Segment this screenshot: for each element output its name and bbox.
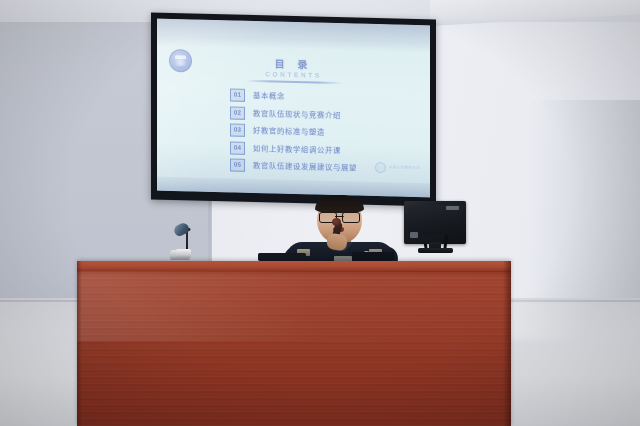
- toc-number: 01: [230, 89, 245, 102]
- watermark-badge-icon: [375, 162, 386, 173]
- projection-screen-surface: 目 录 CONTENTS 01 基本概念 02 教官队伍现状与竞赛介绍 03: [157, 19, 430, 198]
- drinking-cup: [176, 249, 191, 258]
- slide-watermark: 中国人民警察大学: [375, 162, 420, 174]
- toc-label: 如何上好教学组调公开课: [253, 143, 341, 156]
- projection-screen-frame: 目 录 CONTENTS 01 基本概念 02 教官队伍现状与竞赛介绍 03: [151, 13, 436, 207]
- toc-label: 教官队伍现状与竞赛介绍: [253, 108, 341, 121]
- toc-number: 04: [230, 141, 245, 154]
- toc-number: 05: [230, 159, 245, 172]
- lcd-monitor: [404, 201, 466, 251]
- toc-label: 好教官的标准与塑造: [253, 125, 325, 138]
- toc-label: 基本概念: [253, 90, 285, 102]
- microphone-head-icon: [332, 218, 341, 226]
- presentation-slide: 目 录 CONTENTS 01 基本概念 02 教官队伍现状与竞赛介绍 03: [157, 35, 430, 184]
- lecture-hall-photo: 目 录 CONTENTS 01 基本概念 02 教官队伍现状与竞赛介绍 03: [0, 0, 640, 426]
- podium-left-edge: [77, 261, 82, 426]
- monitor-stand-base: [418, 248, 453, 253]
- monitor-port: [410, 232, 418, 238]
- toc-number: 02: [230, 106, 245, 119]
- monitor-brand-logo-icon: [446, 206, 459, 210]
- lens-right: [342, 212, 360, 223]
- podium-object-dark: [258, 253, 306, 261]
- podium-object-dark-right: [352, 252, 394, 261]
- wall-shadow: [530, 100, 640, 300]
- podium-right-edge: [503, 261, 511, 426]
- toc-number: 03: [230, 124, 245, 137]
- hair: [315, 195, 364, 213]
- monitor-bezel: [404, 201, 466, 244]
- watermark-label: 中国人民警察大学: [389, 166, 420, 171]
- slide-title-block: 目 录 CONTENTS: [157, 53, 430, 86]
- wooden-podium: [77, 261, 511, 426]
- podium-sheen: [77, 271, 511, 341]
- title-underline: [246, 80, 342, 84]
- toc-label: 教官队伍建设发展建议与展望: [253, 160, 357, 174]
